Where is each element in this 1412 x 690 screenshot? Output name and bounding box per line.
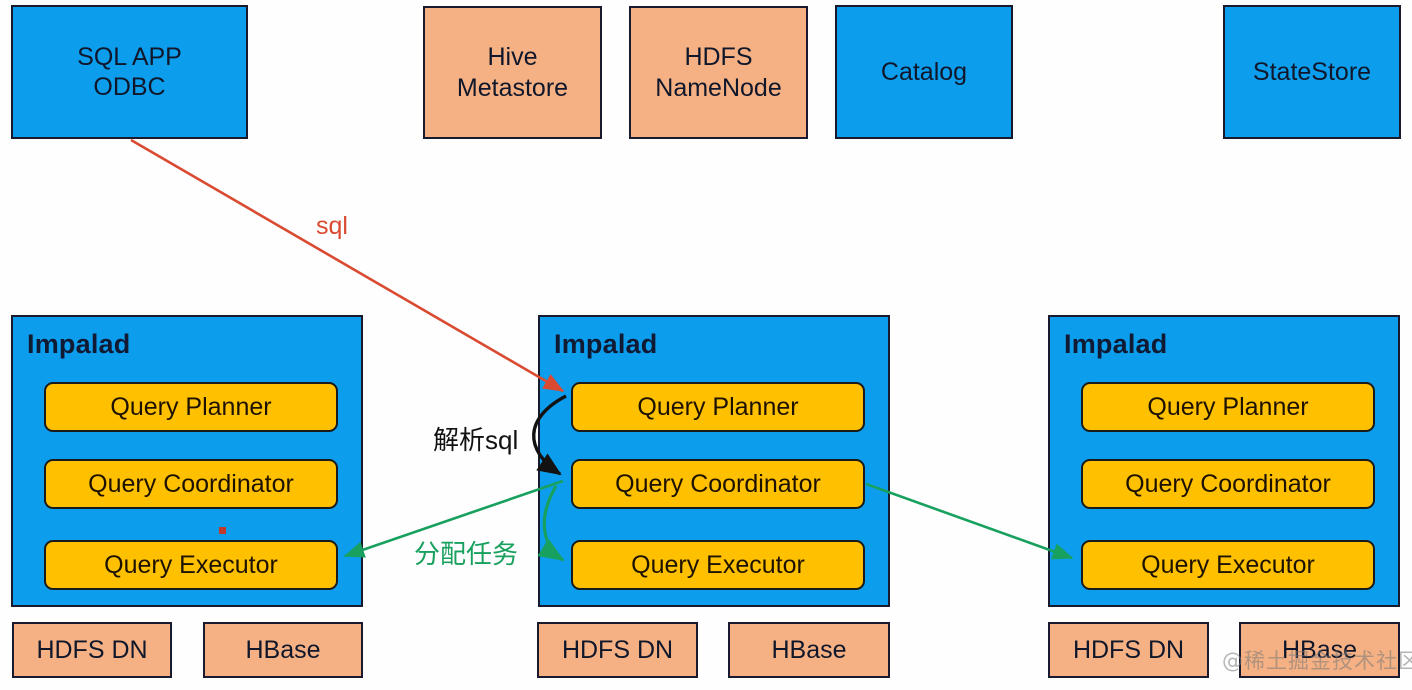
impalad-node-1[interactable]: Impalad Query Planner Query Coordinator … [11, 315, 363, 607]
impalad-node-1-query-executor[interactable]: Query Executor [44, 540, 338, 590]
impalad-node-1-title: Impalad [27, 329, 130, 360]
edge-label-dispatch-task: 分配任务 [414, 534, 518, 571]
service-box-sql-app-odbc[interactable]: SQL APP ODBC [11, 5, 248, 139]
service-box-hdfs-namenode[interactable]: HDFS NameNode [629, 6, 808, 139]
impalad-node-2-storage-hdfs-dn[interactable]: HDFS DN [537, 622, 698, 678]
service-box-hive-metastore[interactable]: Hive Metastore [423, 6, 602, 139]
impalad-node-3-title: Impalad [1064, 329, 1167, 360]
impalad-node-3-query-executor[interactable]: Query Executor [1081, 540, 1375, 590]
impalad-node-1-storage-hdfs-dn[interactable]: HDFS DN [12, 622, 172, 678]
edge-label-sql: sql [316, 212, 348, 241]
impalad-node-2[interactable]: Impalad Query Planner Query Coordinator … [538, 315, 890, 607]
impalad-node-2-query-planner[interactable]: Query Planner [571, 382, 865, 432]
watermark-text: @稀土掘金技术社区 [1222, 645, 1412, 675]
edge-label-parse-sql: 解析sql [433, 420, 518, 457]
impalad-node-3-query-coordinator[interactable]: Query Coordinator [1081, 459, 1375, 509]
impalad-node-2-query-coordinator[interactable]: Query Coordinator [571, 459, 865, 509]
service-box-statestore[interactable]: StateStore [1223, 5, 1401, 139]
arrow-dispatch-to-node3-executor [866, 484, 1072, 558]
impalad-node-1-storage-hbase[interactable]: HBase [203, 622, 363, 678]
impalad-node-1-query-planner[interactable]: Query Planner [44, 382, 338, 432]
impala-architecture-diagram: SQL APP ODBC Hive Metastore HDFS NameNod… [0, 0, 1412, 690]
impalad-node-2-storage-hbase[interactable]: HBase [728, 622, 890, 678]
impalad-node-3[interactable]: Impalad Query Planner Query Coordinator … [1048, 315, 1400, 607]
impalad-node-3-query-planner[interactable]: Query Planner [1081, 382, 1375, 432]
impalad-node-1-query-coordinator[interactable]: Query Coordinator [44, 459, 338, 509]
impalad-node-2-title: Impalad [554, 329, 657, 360]
red-marker-dot [219, 527, 226, 534]
impalad-node-2-query-executor[interactable]: Query Executor [571, 540, 865, 590]
service-box-catalog[interactable]: Catalog [835, 5, 1013, 139]
impalad-node-3-storage-hdfs-dn[interactable]: HDFS DN [1048, 622, 1209, 678]
